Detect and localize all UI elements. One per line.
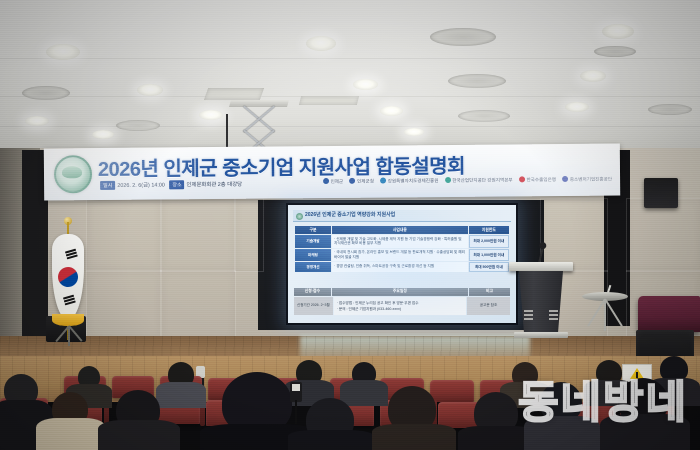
banner-organizer-logos: 인제군 인제군청 강원특별자치도경제진흥원 한국산업단지공단 강원지역본부 한국… [318,176,612,186]
lectern-base [514,332,568,338]
row-limit: 최대 500만원 이내 [469,262,509,272]
organizer-logo-3: 한국산업단지공단 강원지역본부 [445,176,513,184]
recessed-downlight [380,106,403,116]
attendee-body [372,424,456,450]
attendee-body [524,416,600,450]
event-photo-scene: 2026년 인제군 중소기업 지원사업 합동설명회 일시2026. 2. 6(금… [0,0,700,450]
taegeukgi-korean-national-flag [40,222,98,344]
lectern-stripe [549,310,558,312]
organizer-logo-0: 인제군 [323,178,343,185]
ceiling-air-diffuser [430,28,496,46]
banner-datetime-label: 일시 [100,181,115,190]
attendee-body [600,414,690,450]
attendee-body [340,380,388,406]
wall-tile [160,270,236,342]
ceiling-air-diffuser [594,46,636,57]
banner-place-label: 장소 [169,180,184,189]
recessed-downlight [580,70,606,82]
row-content: · 국내외 전시회 참가, 온라인 홍보 및 브랜드 개발 등 판로개척 지원 … [332,249,468,262]
lectern-stripe [524,314,533,316]
camera-tripod-pole [295,400,297,424]
lectern-stripe [524,318,533,320]
slide-col-limit: 지원한도 [469,226,509,234]
recessed-downlight [353,79,378,90]
ceiling-air-diffuser [22,86,70,100]
slide-table-row: 경영개선 · 경영 컨설팅, 인증 취득, 스마트공장 구축 및 근로환경 개선… [295,262,509,272]
wall-tile [160,198,236,272]
covered-upright-piano [638,296,700,332]
recessed-downlight [565,102,589,112]
presentation-slide: 2026년 인제군 중소기업 역량강화 지원사업 구분 사업내용 지원한도 기술… [288,205,516,323]
wall-tile [540,198,608,272]
ceiling-seam [0,126,700,127]
lectern-body [516,271,566,333]
ceiling-air-diffuser [448,74,506,88]
slide-col-category: 구분 [295,226,331,234]
wall-mounted-loudspeaker [644,178,678,208]
ceiling-air-diffuser [648,104,692,115]
ceiling-seam [0,58,700,59]
attendee-body [288,430,374,450]
trigram-gon [63,295,76,307]
row-limit: 최대 1,000만원 이내 [469,249,509,262]
ceiling-hatch [299,96,359,105]
recessed-downlight [602,24,634,39]
auditorium-seat [430,380,474,402]
recessed-downlight [46,44,80,60]
ceiling-hatch [204,88,264,100]
lectern-stripe [524,310,533,312]
organizer-logo-1: 인제군청 [349,178,373,185]
row-content: · 신제품 개발 및 기술 고도화, 시제품 제작 지원 등 기업 기술경쟁력 … [332,235,468,248]
inje-county-emblem-icon [54,155,92,193]
note-header-middle: 주요일정 [332,288,468,296]
note-right-label: 공고문 참조 [467,297,510,315]
event-banner: 2026년 인제군 중소기업 지원사업 합동설명회 일시2026. 2. 6(금… [44,143,620,200]
slide-table-header-row: 구분 사업내용 지원한도 [295,226,509,234]
note-item: · 문의 : 인제군 기업지원과 (033-460-xxxx) [337,306,463,312]
wall-tile [626,198,700,272]
recessed-downlight [306,36,336,51]
flag-cloth [52,234,84,320]
slide-table-row: 마케팅 · 국내외 전시회 참가, 온라인 홍보 및 브랜드 개발 등 판로개척… [295,249,509,262]
row-content: · 경영 컨설팅, 인증 취득, 스마트공장 구축 및 근로환경 개선 등 지원 [332,262,468,272]
lectern-top [509,262,573,271]
row-category: 기술개발 [295,235,331,248]
organizer-logo-4: 한국수출입은행 [519,176,556,183]
taegeuk-symbol [56,265,80,289]
note-side-label: 신청기간 2026. 2~3월 [294,297,333,315]
tripod-leg [68,326,82,342]
tripod-video-camera [290,382,302,402]
slide-table: 구분 사업내용 지원한도 기술개발 · 신제품 개발 및 기술 고도화, 시제품… [294,225,510,273]
lectern-stripe [549,318,558,320]
recessed-downlight [25,116,49,126]
attendee-body [36,418,106,450]
ceiling-air-diffuser [458,110,510,122]
lift-ceiling-plate [229,100,289,107]
ceiling-air-diffuser [116,120,160,131]
note-header-left: 신청·접수 [294,288,331,296]
row-limit: 최대 2,000만원 이내 [469,235,509,248]
banner-subtitle: 일시2026. 2. 6(금) 14:00 장소인제문화회관 2층 대강당 [100,180,242,190]
table-leg [604,298,623,326]
banner-place-value: 인제문화회관 2층 대강당 [187,182,243,188]
flag-gold-fringe [52,314,84,326]
organizer-logo-5: 중소벤처기업진흥공단 [562,176,612,183]
organizer-logo-2: 강원특별자치도경제진흥원 [380,177,438,185]
attendee-body [156,382,206,408]
recessed-downlight [199,110,223,120]
note-header-right: 비고 [469,288,510,296]
table-leg [604,299,606,331]
slide-title: 2026년 인제군 중소기업 역량강화 지원사업 [293,210,511,222]
tripod-leg [68,326,70,346]
banner-datetime-value: 2026. 2. 6(금) 14:00 [117,182,165,188]
wall-tile [234,198,264,272]
slide-table-row: 기술개발 · 신제품 개발 및 기술 고도화, 시제품 제작 지원 등 기업 기… [295,235,509,248]
speaker-lectern [512,262,570,340]
recessed-downlight [404,128,424,136]
projection-screen: 2026년 인제군 중소기업 역량강화 지원사업 구분 사업내용 지원한도 기술… [286,203,518,325]
trigram-geon [65,249,78,261]
slide-note-block: 신청·접수 주요일정 비고 신청기간 2026. 2~3월 · 접수방법 : 인… [294,288,510,315]
flag-tripod-stand [43,326,95,346]
lectern-stripe [549,314,558,316]
recessed-downlight [137,84,163,96]
note-items: · 접수방법 : 인제군 누리집 공고 확인 후 방문·우편 접수 · 문의 :… [334,297,466,315]
row-category: 마케팅 [295,249,331,262]
attendee-body [98,420,180,450]
slide-col-content: 사업내용 [332,226,468,234]
row-category: 경영개선 [295,262,331,272]
round-side-table [582,292,628,340]
recessed-downlight [92,130,114,139]
